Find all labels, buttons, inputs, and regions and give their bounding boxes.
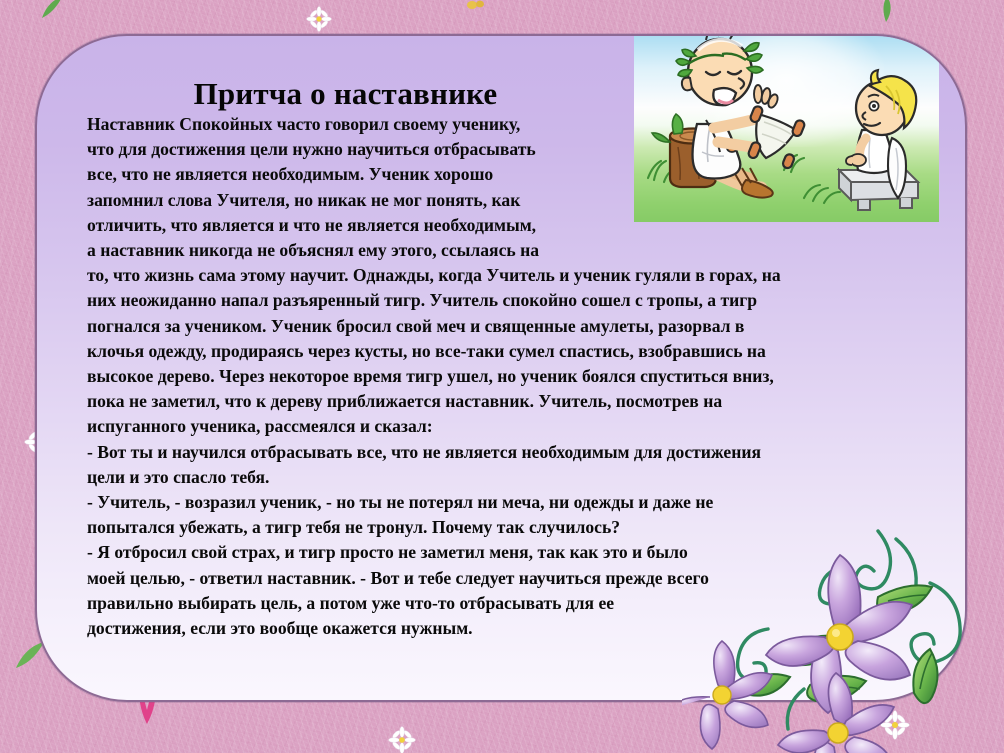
daisy-flower-icon (388, 726, 416, 753)
story-line: моей целью, - ответил наставник. - Вот и… (87, 566, 935, 591)
leaf-sprig-icon (40, 0, 70, 25)
story-line: - Я отбросил свой страх, и тигр просто н… (87, 540, 935, 565)
story-line: клочья одежду, продираясь через кусты, н… (87, 339, 935, 364)
panel-inner: Притча о наставнике Наставник Спокойных … (37, 36, 965, 700)
teacher-student-illustration (634, 34, 939, 222)
story-line: погнался за учеником. Ученик бросил свой… (87, 314, 935, 339)
story-line: высокое дерево. Через некоторое время ти… (87, 364, 935, 389)
story-line: них неожиданно напал разъяренный тигр. У… (87, 288, 935, 313)
story-line: правильно выбирать цель, а потом уже что… (87, 591, 935, 616)
story-line: - Учитель, - возразил ученик, - но ты не… (87, 490, 935, 515)
story-line: достижения, если это вообще окажется нуж… (87, 616, 935, 641)
page-title: Притча о наставнике (67, 76, 667, 112)
daisy-flower-icon (306, 6, 332, 37)
story-line: испуганного ученика, рассмеялся и сказал… (87, 414, 935, 439)
content-panel: Притча о наставнике Наставник Спокойных … (35, 34, 967, 702)
story-line: - Вот ты и научился отбрасывать все, что… (87, 440, 935, 465)
story-line: а наставник никогда не объяснял ему этог… (87, 238, 935, 263)
story-line: попытался убежать, а тигр тебя не тронул… (87, 515, 935, 540)
leaf-sprig-icon (873, 0, 899, 28)
story-line: пока не заметил, что к дереву приближает… (87, 389, 935, 414)
bud-icon (465, 0, 487, 21)
story-line: то, что жизнь сама этому научит. Однажды… (87, 263, 935, 288)
story-line: цели и это спасло тебя. (87, 465, 935, 490)
illustration-artwork (634, 34, 939, 222)
daisy-flower-icon (880, 710, 910, 745)
